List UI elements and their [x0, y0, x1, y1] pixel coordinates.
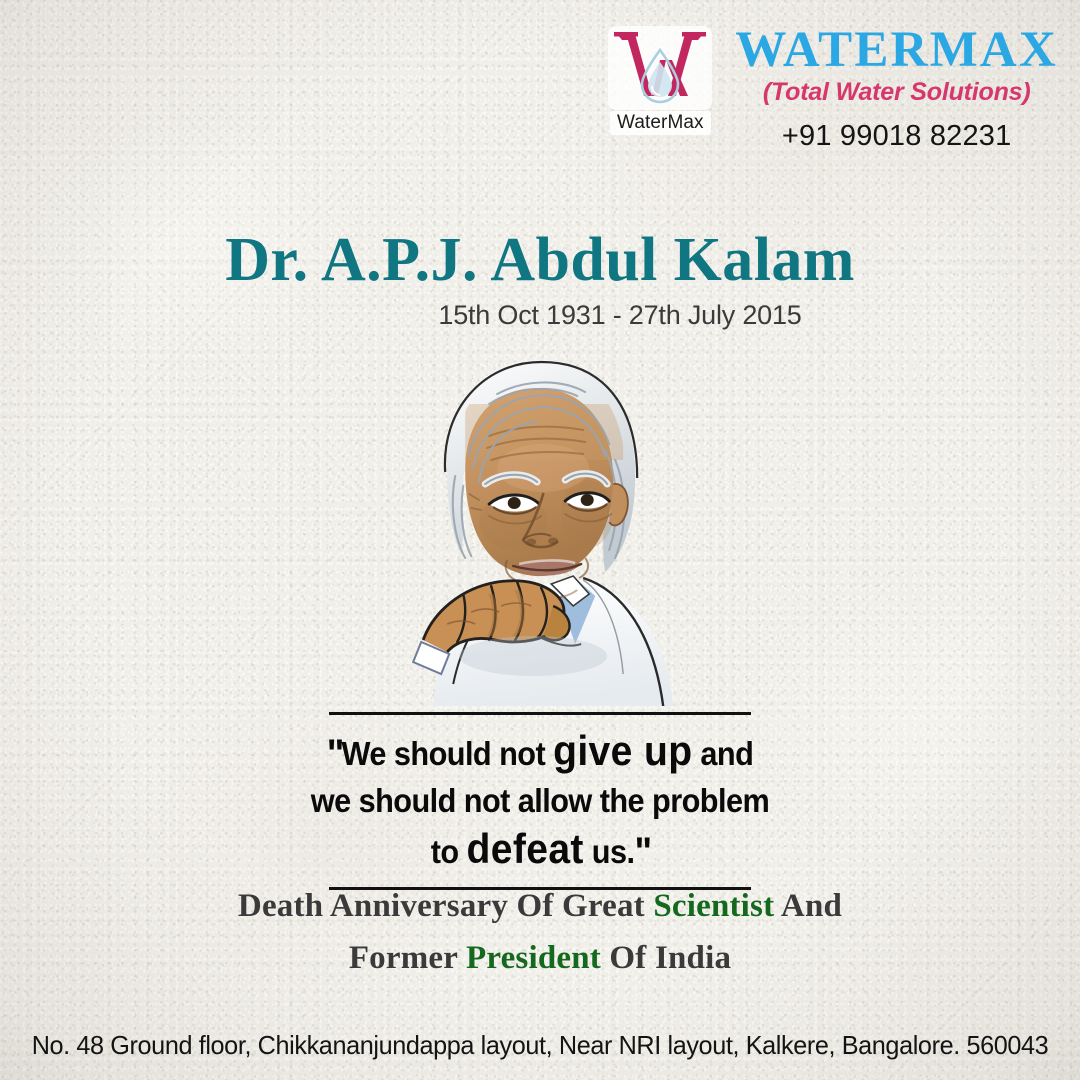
subtitle-line2-part-b: Of India [601, 940, 731, 976]
brand-header: WaterMax WATERMAX (Total Water Solutions… [601, 22, 1058, 153]
watermax-w-droplet-logo [608, 26, 712, 110]
subtitle-line1-part-b: And [774, 888, 842, 924]
quote-text: "We should not give up and we should not… [0, 715, 1080, 880]
subtitle-highlight-president: President [466, 940, 601, 976]
brand-name: WATERMAX [735, 26, 1058, 76]
logo-wordmark: WaterMax [610, 111, 711, 135]
page-title: Dr. A.P.J. Abdul Kalam [0, 228, 1080, 292]
subtitle-block: Death Anniversary Of Great Scientist And… [0, 880, 1080, 984]
poster-canvas: WaterMax WATERMAX (Total Water Solutions… [0, 0, 1080, 1080]
quote-line1-part-b: and [692, 735, 753, 772]
quote-open-mark: " [327, 732, 342, 776]
title-block: Dr. A.P.J. Abdul Kalam 15th Oct 1931 - 2… [0, 228, 1080, 331]
subtitle-line-1: Death Anniversary Of Great Scientist And [0, 880, 1080, 932]
subtitle-line1-part-a: Death Anniversary Of Great [238, 888, 653, 924]
quote-block: "We should not give up and we should not… [0, 712, 1080, 890]
brand-text-block: WATERMAX (Total Water Solutions) +91 990… [735, 22, 1058, 153]
quote-line3-part-a: to [431, 833, 467, 870]
quote-emphasis-give-up: give up [553, 727, 692, 774]
contact-phone-number[interactable]: +91 99018 82231 [735, 120, 1058, 153]
quote-line1-part-a: We should not [342, 735, 554, 772]
quote-line-2: we should not allow the problem [38, 780, 1042, 822]
quote-line-3: to defeat us." [38, 822, 1042, 878]
footer-address: No. 48 Ground floor, Chikkananjundappa l… [16, 1030, 1064, 1061]
subtitle-line2-part-a: Former [349, 940, 466, 976]
company-logo[interactable]: WaterMax [601, 22, 719, 135]
subtitle-line-2: Former President Of India [0, 932, 1080, 984]
quote-emphasis-defeat: defeat [467, 825, 584, 872]
subtitle-highlight-scientist: Scientist [653, 888, 774, 924]
brand-tagline: (Total Water Solutions) [735, 78, 1058, 108]
life-dates-text: 15th Oct 1931 - 27th July 2015 [0, 300, 1080, 331]
quote-close-mark: " [634, 830, 649, 874]
quote-line3-part-b: us. [584, 833, 635, 870]
portrait-illustration [337, 344, 727, 706]
quote-line-1: "We should not give up and [38, 724, 1042, 780]
